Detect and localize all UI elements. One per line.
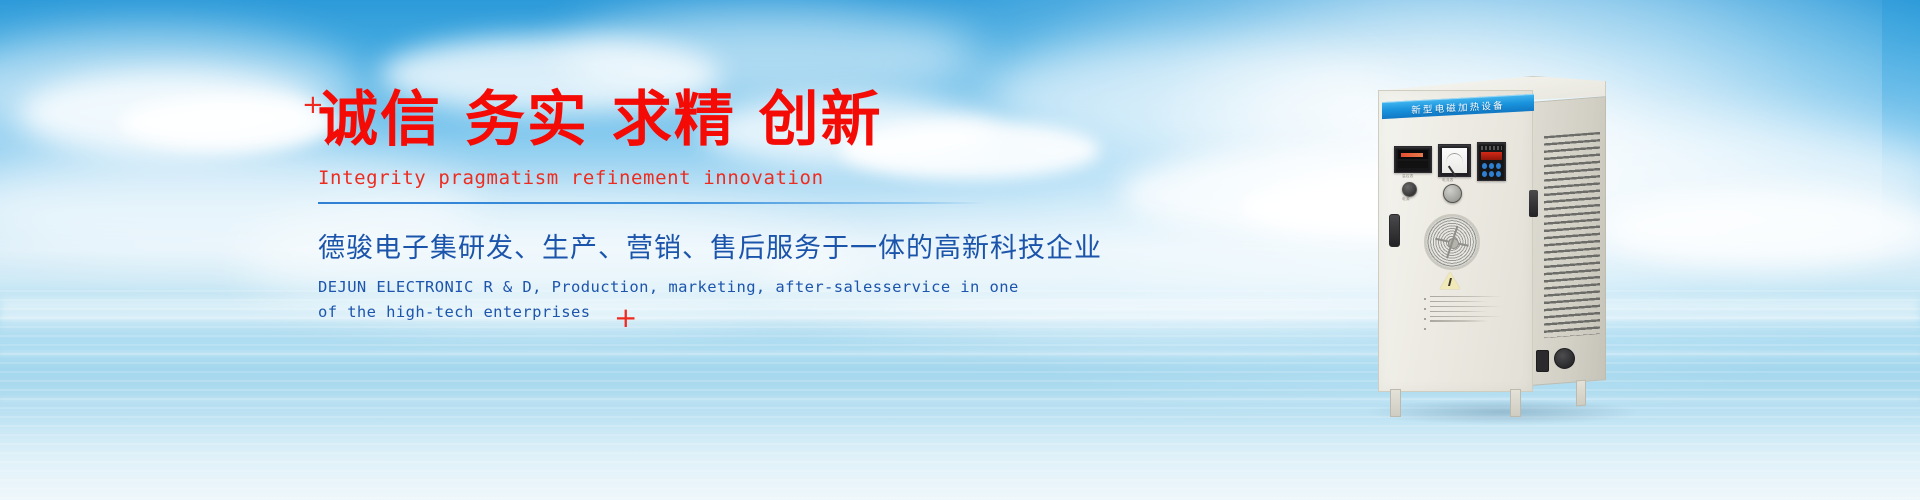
side-latch-handle[interactable] bbox=[1529, 190, 1538, 217]
ammeter-face bbox=[1442, 148, 1467, 173]
fan-hub bbox=[1448, 238, 1459, 249]
machine-leg bbox=[1576, 380, 1586, 407]
controller-subdisplay bbox=[1398, 161, 1428, 168]
keypad-button[interactable] bbox=[1489, 163, 1494, 169]
ammeter-needle bbox=[1447, 165, 1456, 177]
divider-line bbox=[318, 202, 986, 204]
analog-ammeter bbox=[1438, 144, 1471, 177]
banner-text-block: 诚信 务实 求精 创新 Integrity pragmatism refinem… bbox=[318, 88, 1078, 325]
keypad-button[interactable] bbox=[1496, 171, 1501, 177]
digital-temperature-controller[interactable] bbox=[1394, 146, 1432, 173]
controller-display bbox=[1398, 150, 1428, 159]
keypad-button[interactable] bbox=[1482, 163, 1487, 169]
instruction-line bbox=[1430, 320, 1488, 321]
headline-slogan-english: Integrity pragmatism refinement innovati… bbox=[318, 167, 1078, 189]
keypad-display bbox=[1481, 152, 1502, 160]
machine-shadow bbox=[1364, 399, 1642, 425]
high-voltage-warning-label bbox=[1440, 272, 1460, 290]
keypad-button[interactable] bbox=[1482, 171, 1487, 177]
ammeter-scale-arc bbox=[1446, 153, 1463, 163]
promo-banner: + + 诚信 务实 求精 创新 Integrity pragmatism ref… bbox=[0, 0, 1920, 500]
instruction-line bbox=[1430, 296, 1502, 297]
instruction-bullet bbox=[1424, 328, 1426, 330]
instruction-bullet bbox=[1424, 308, 1426, 310]
instruction-line bbox=[1430, 316, 1502, 317]
machine-leg bbox=[1510, 389, 1521, 417]
company-description-english-line2: of the high-tech enterprises bbox=[318, 300, 1078, 325]
power-selector-knob[interactable] bbox=[1402, 182, 1417, 197]
keypad-button[interactable] bbox=[1496, 163, 1501, 169]
cooling-fan-grille bbox=[1424, 214, 1480, 270]
ammeter-caption: 电流表 bbox=[1442, 178, 1454, 183]
product-label-text: 新型电磁加热设备 bbox=[1411, 97, 1505, 116]
product-image-heating-equipment: 新型电磁加热设备 温控表 电流表 bbox=[1378, 62, 1628, 417]
instruction-bullet bbox=[1424, 298, 1426, 300]
operating-instructions-label bbox=[1430, 296, 1508, 325]
instruction-line bbox=[1430, 306, 1502, 307]
keypad-button[interactable] bbox=[1489, 171, 1494, 177]
instruction-bullet bbox=[1424, 318, 1426, 320]
side-ventilation-slots bbox=[1544, 132, 1600, 338]
cloud-shape bbox=[1600, 190, 1920, 268]
cable-port bbox=[1536, 350, 1549, 372]
company-description-english-line1: DEJUN ELECTRONIC R & D, Production, mark… bbox=[318, 275, 1078, 300]
keypad-display-panel[interactable] bbox=[1477, 142, 1506, 181]
keypad-buttons[interactable] bbox=[1482, 163, 1501, 177]
round-connector-port bbox=[1554, 348, 1575, 369]
instruction-line bbox=[1430, 301, 1488, 302]
adjust-knob[interactable] bbox=[1443, 184, 1462, 203]
power-knob-caption: 电源 bbox=[1402, 197, 1410, 202]
machine-leg bbox=[1390, 389, 1401, 417]
door-handle[interactable] bbox=[1389, 214, 1400, 247]
instruction-line bbox=[1430, 311, 1488, 312]
company-description-chinese: 德骏电子集研发、生产、营销、售后服务于一体的高新科技企业 bbox=[318, 226, 1078, 265]
keypad-indicator-row bbox=[1481, 146, 1502, 150]
headline-slogan: 诚信 务实 求精 创新 bbox=[318, 88, 1078, 153]
controller-caption: 温控表 bbox=[1402, 174, 1414, 179]
